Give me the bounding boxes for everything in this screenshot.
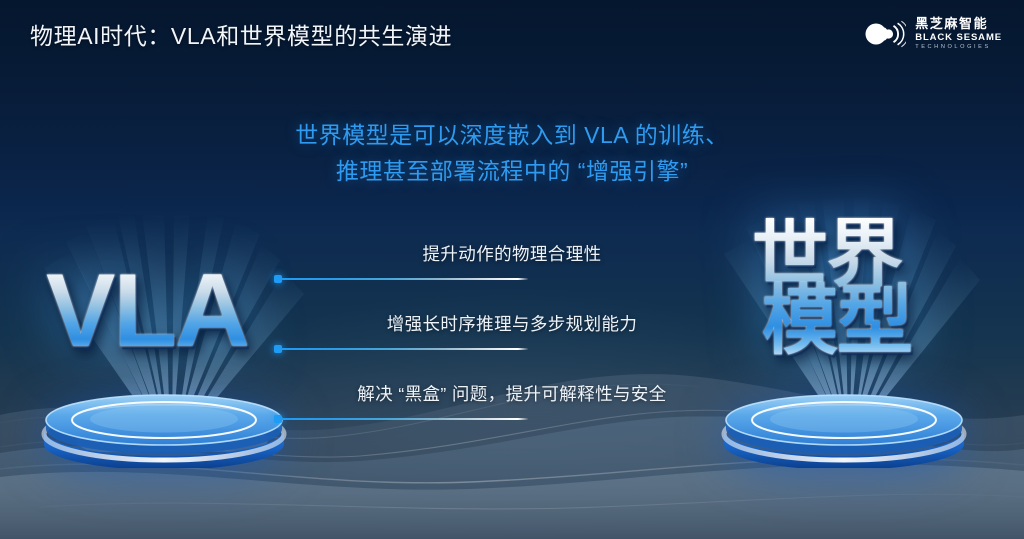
benefit-divider xyxy=(276,278,528,280)
brand-name-cn: 黑芝麻智能 xyxy=(915,17,1002,30)
subtitle-line-1: 世界模型是可以深度嵌入到 VLA 的训练、 xyxy=(0,118,1024,154)
benefit-divider-dot xyxy=(274,345,282,353)
benefit-list: 提升动作的物理合理性 增强长时序推理与多步规划能力 解决 “黑盒” 问题，提升可… xyxy=(252,236,772,446)
hero-world-model-line-1: 世界 xyxy=(752,211,902,296)
benefit-label: 增强长时序推理与多步规划能力 xyxy=(252,316,772,334)
benefit-divider xyxy=(276,348,528,350)
benefit-item-3: 解决 “黑盒” 问题，提升可解释性与安全 xyxy=(252,376,772,446)
brand-tagline: TECHNOLOGIES xyxy=(915,45,1002,51)
brand-logo-text: 黑芝麻智能 BLACK SESAME TECHNOLOGIES xyxy=(915,17,1002,51)
benefit-label: 提升动作的物理合理性 xyxy=(252,246,772,264)
slide-header: 物理AI时代：VLA和世界模型的共生演进 黑芝麻智能 BLACK SESAME … xyxy=(0,0,1024,68)
benefit-item-2: 增强长时序推理与多步规划能力 xyxy=(252,306,772,376)
benefit-divider-dot xyxy=(274,275,282,283)
slide-canvas: 物理AI时代：VLA和世界模型的共生演进 黑芝麻智能 BLACK SESAME … xyxy=(0,0,1024,539)
black-sesame-wave-icon xyxy=(862,19,906,49)
page-title: 物理AI时代：VLA和世界模型的共生演进 xyxy=(30,17,452,51)
subtitle-block: 世界模型是可以深度嵌入到 VLA 的训练、 推理甚至部署流程中的 “增强引擎” xyxy=(0,118,1024,189)
benefit-item-1: 提升动作的物理合理性 xyxy=(252,236,772,306)
brand-logo: 黑芝麻智能 BLACK SESAME TECHNOLOGIES xyxy=(862,17,1002,51)
subtitle-line-2: 推理甚至部署流程中的 “增强引擎” xyxy=(0,154,1024,190)
benefit-divider-dot xyxy=(274,415,282,423)
benefit-label: 解决 “黑盒” 问题，提升可解释性与安全 xyxy=(252,386,772,404)
brand-name-en: BLACK SESAME xyxy=(915,33,1002,43)
benefit-divider xyxy=(276,418,528,420)
